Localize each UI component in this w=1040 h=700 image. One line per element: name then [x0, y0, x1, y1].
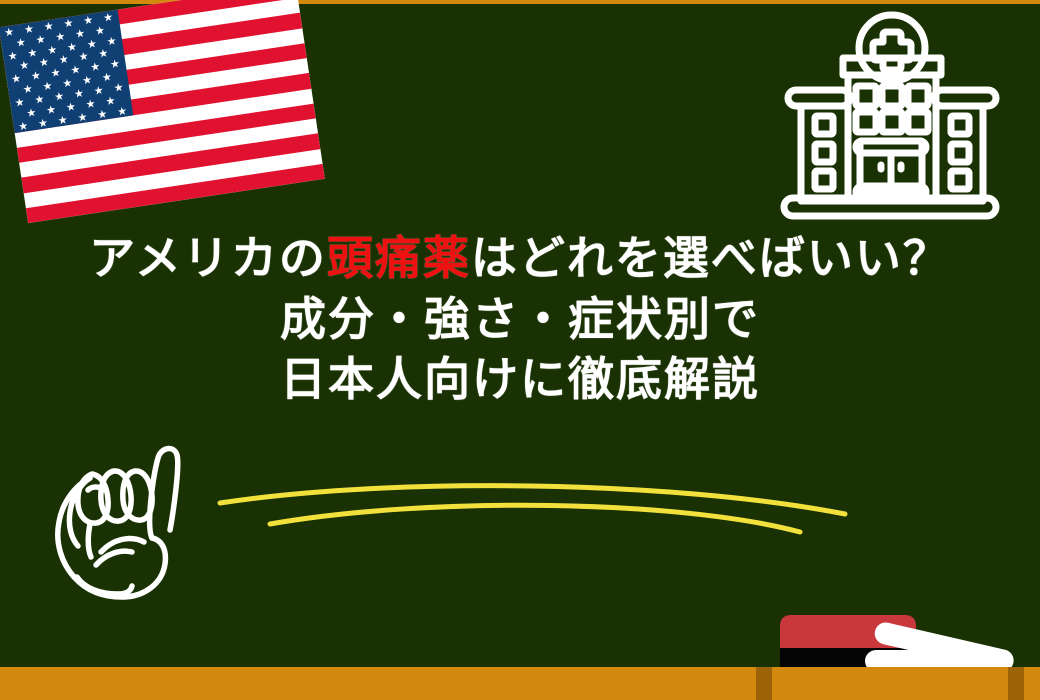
underline-stroke-1 — [220, 486, 845, 514]
page-title: アメリカの頭痛薬はどれを選べばいい？ 成分・強さ・症状別で 日本人向けに徹底解説 — [0, 228, 1040, 410]
underline-stroke-2 — [270, 505, 800, 532]
title-line1-prefix: アメリカの — [89, 231, 327, 285]
united-states-flag — [0, 0, 325, 225]
title-line-2: 成分・強さ・症状別で — [0, 289, 1040, 350]
flag-field — [0, 0, 325, 223]
chalk-underline — [200, 470, 880, 550]
pointing-hand-icon — [34, 442, 204, 602]
flag-canton — [0, 10, 133, 133]
title-accent-keyword: 頭痛薬 — [327, 231, 471, 285]
tray-divider — [756, 667, 772, 700]
medical-cross-icon — [873, 32, 911, 70]
title-line-1: アメリカの頭痛薬はどれを選べばいい？ — [0, 228, 1040, 289]
title-line-3: 日本人向けに徹底解説 — [0, 349, 1040, 410]
chalkboard-canvas: アメリカの頭痛薬はどれを選べばいい？ 成分・強さ・症状別で 日本人向けに徹底解説 — [0, 0, 1040, 700]
chalk-tray — [0, 667, 1040, 700]
hospital-building-icon — [778, 8, 1006, 226]
title-line1-suffix: はどれを選べばいい？ — [471, 231, 951, 285]
tray-divider — [1008, 667, 1024, 700]
